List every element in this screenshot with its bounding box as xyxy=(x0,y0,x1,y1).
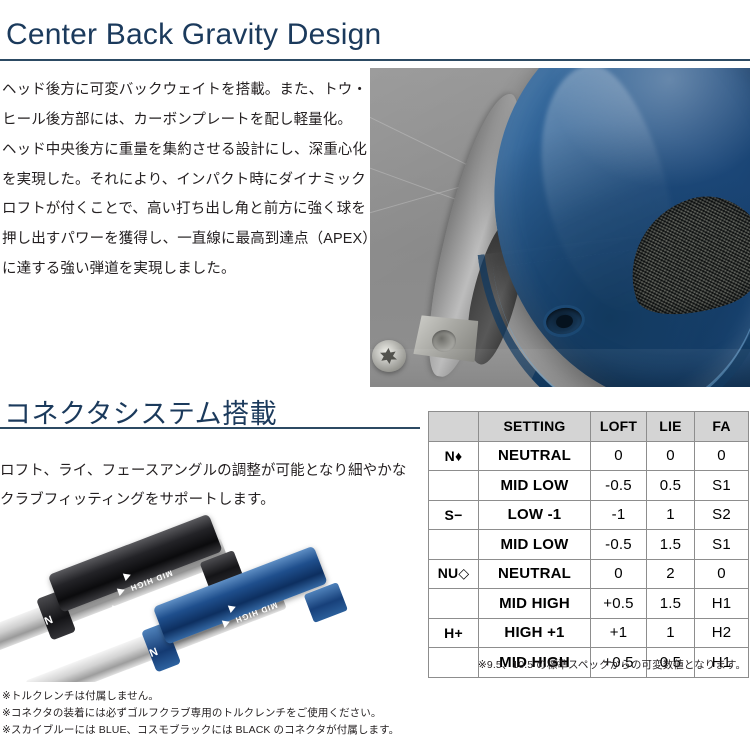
page-footnotes: ※トルクレンチは付属しません。 ※コネクタの装着には必ずゴルフクラブ専用のトルク… xyxy=(2,688,399,739)
cell-loft: +1 xyxy=(591,618,647,648)
connector-settings-table: SETTING LOFT LIE FA N♦ NEUTRAL 0 0 0 MID… xyxy=(428,411,749,678)
body-line: 押し出すパワーを獲得し、一直線に最高到達点（APEX） xyxy=(2,225,354,255)
connector-product-image: N MID HIGH NEUTRAL MID LOW N MID HIGH NE… xyxy=(0,512,420,682)
cell-lie: 1 xyxy=(647,500,695,530)
cell-code xyxy=(429,648,479,678)
table-row: MID HIGH +0.5 1.5 H1 xyxy=(429,589,749,619)
cell-code: N♦ xyxy=(429,441,479,471)
body-line: ロフト、ライ、フェースアングルの調整が可能となり細やかな xyxy=(0,457,420,486)
section1-divider xyxy=(0,59,750,61)
cell-setting: LOW -1 xyxy=(479,500,591,530)
table-row: N♦ NEUTRAL 0 0 0 xyxy=(429,441,749,471)
cell-setting: NEUTRAL xyxy=(479,559,591,589)
cell-lie: 1 xyxy=(647,618,695,648)
cell-loft: +0.5 xyxy=(591,589,647,619)
cell-fa: S1 xyxy=(695,471,749,501)
cell-lie: 2 xyxy=(647,559,695,589)
cell-fa: H2 xyxy=(695,618,749,648)
cell-setting: MID LOW xyxy=(479,471,591,501)
cell-loft: 0 xyxy=(591,559,647,589)
table-row: S− LOW -1 -1 1 S2 xyxy=(429,500,749,530)
cell-lie: 0 xyxy=(647,441,695,471)
table-row: NU◇ NEUTRAL 0 2 0 xyxy=(429,559,749,589)
section2-heading: コネクタシステム搭載 xyxy=(4,392,277,431)
cell-lie: 0.5 xyxy=(647,471,695,501)
cell-setting: NEUTRAL xyxy=(479,441,591,471)
cell-code: NU◇ xyxy=(429,559,479,589)
section2-body: ロフト、ライ、フェースアングルの調整が可能となり細やかな クラブフィッティングを… xyxy=(0,457,420,515)
cell-lie: 1.5 xyxy=(647,589,695,619)
cell-code xyxy=(429,530,479,560)
section2-divider xyxy=(0,427,420,429)
driver-head-product-image xyxy=(370,68,750,387)
column-header-lie: LIE xyxy=(647,412,695,442)
cell-code xyxy=(429,471,479,501)
cell-setting: MID LOW xyxy=(479,530,591,560)
column-header-setting: SETTING xyxy=(479,412,591,442)
cell-fa: 0 xyxy=(695,441,749,471)
section1-heading: Center Back Gravity Design xyxy=(6,18,381,52)
table-footnote: ※9.5、10.5 の標準スペックからの可変数値となります。 xyxy=(478,657,746,672)
table-header-row: SETTING LOFT LIE FA xyxy=(429,412,749,442)
table-row: MID LOW -0.5 1.5 S1 xyxy=(429,530,749,560)
cell-loft: -1 xyxy=(591,500,647,530)
cell-code: S− xyxy=(429,500,479,530)
body-line: ロフトが付くことで、高い打ち出し角と前方に強く球を xyxy=(2,195,354,225)
footnote-line: ※コネクタの装着には必ずゴルフクラブ専用のトルクレンチをご使用ください。 xyxy=(2,705,399,722)
cell-fa: S2 xyxy=(695,500,749,530)
cell-setting: HIGH +1 xyxy=(479,618,591,648)
cell-fa: S1 xyxy=(695,530,749,560)
cell-code: H+ xyxy=(429,618,479,648)
connector-blue-arrow-3 xyxy=(217,635,226,645)
footnote-line: ※トルクレンチは付属しません。 xyxy=(2,688,399,705)
column-header-code xyxy=(429,412,479,442)
footnote-line: ※スカイブルーには BLUE、コスモブラックには BLACK のコネクタが付属し… xyxy=(2,722,399,739)
cell-loft: -0.5 xyxy=(591,530,647,560)
body-line: ヘッド後方に可変バックウェイトを搭載。また、トウ・ xyxy=(2,76,354,106)
table-row: H+ HIGH +1 +1 1 H2 xyxy=(429,618,749,648)
body-line: ヒール後方部には、カーボンプレートを配し軽量化。 xyxy=(2,106,354,136)
cell-code xyxy=(429,589,479,619)
cell-loft: 0 xyxy=(591,441,647,471)
body-line: に達する強い弾道を実現しました。 xyxy=(2,255,354,285)
photo-floor xyxy=(370,349,750,387)
cell-lie: 1.5 xyxy=(647,530,695,560)
table-row: MID LOW -0.5 0.5 S1 xyxy=(429,471,749,501)
body-line: クラブフィッティングをサポートします。 xyxy=(0,486,420,515)
column-header-loft: LOFT xyxy=(591,412,647,442)
cell-loft: -0.5 xyxy=(591,471,647,501)
product-feature-page: Center Back Gravity Design ヘッド後方に可変バックウェ… xyxy=(0,0,750,750)
connector-black-arrow-3 xyxy=(112,603,121,613)
body-line: を実現した。それにより、インパクト時にダイナミック xyxy=(2,166,354,196)
cell-fa: H1 xyxy=(695,589,749,619)
body-line: ヘッド中央後方に重量を集約させる設計にし、深重心化 xyxy=(2,136,354,166)
column-header-fa: FA xyxy=(695,412,749,442)
section1-body: ヘッド後方に可変バックウェイトを搭載。また、トウ・ ヒール後方部には、カーボンプ… xyxy=(2,76,354,285)
cell-setting: MID HIGH xyxy=(479,589,591,619)
cell-fa: 0 xyxy=(695,559,749,589)
